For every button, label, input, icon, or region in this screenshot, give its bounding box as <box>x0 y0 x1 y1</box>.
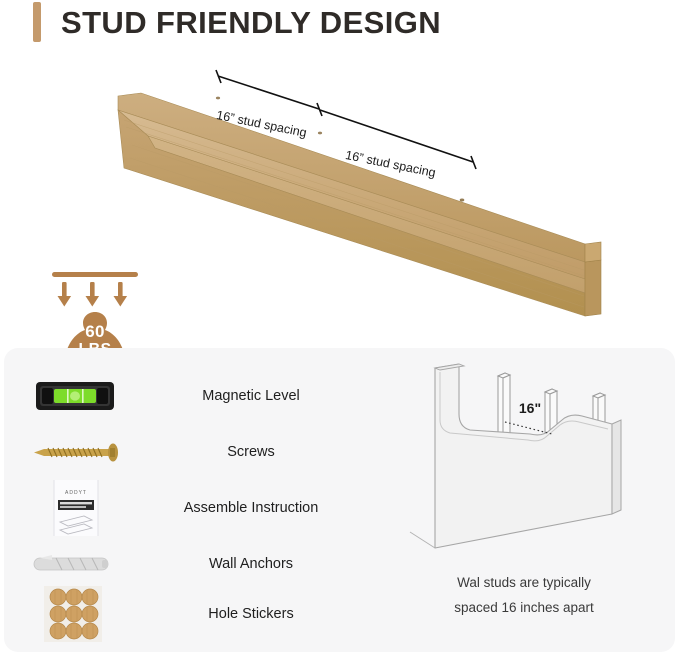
caption-line-2: spaced 16 inches apart <box>374 595 674 620</box>
page-header: STUD FRIENDLY DESIGN <box>0 0 679 48</box>
accessories-panel: Magnetic Level <box>4 348 675 652</box>
list-item-label: Wall Anchors <box>146 536 356 592</box>
title-accent-bar <box>33 2 41 42</box>
dimension-line-1 <box>216 70 322 116</box>
wall-dimension-label: 16" <box>519 400 541 416</box>
instruction-booklet-icon: ADDYT <box>26 480 146 536</box>
caption-line-1: Wal studs are typically <box>374 570 674 595</box>
hole-sticker-icon <box>26 586 146 642</box>
list-item: Wall Anchors <box>26 536 356 592</box>
list-item: Hole Stickers <box>26 586 356 642</box>
list-item-label: Hole Stickers <box>146 586 356 642</box>
list-item-label: Magnetic Level <box>146 368 356 424</box>
list-item: Screws <box>26 424 356 480</box>
hero-section: 16” stud spacing 16” stud spacing 60 LBS <box>0 48 679 340</box>
wall-stud-diagram: 16" <box>402 362 664 572</box>
magnetic-level-icon <box>26 368 146 424</box>
list-item-label: Screws <box>146 424 356 480</box>
wall-diagram-caption: Wal studs are typically spaced 16 inches… <box>374 570 674 620</box>
svg-text:ADDYT: ADDYT <box>65 490 87 496</box>
wall-anchor-icon <box>26 536 146 592</box>
list-item: Magnetic Level <box>26 368 356 424</box>
page-title: STUD FRIENDLY DESIGN <box>61 0 441 46</box>
list-item-label: Assemble Instruction <box>146 480 356 536</box>
screw-icon <box>26 424 146 480</box>
list-item: ADDYT Assemble Instruction <box>26 480 356 536</box>
